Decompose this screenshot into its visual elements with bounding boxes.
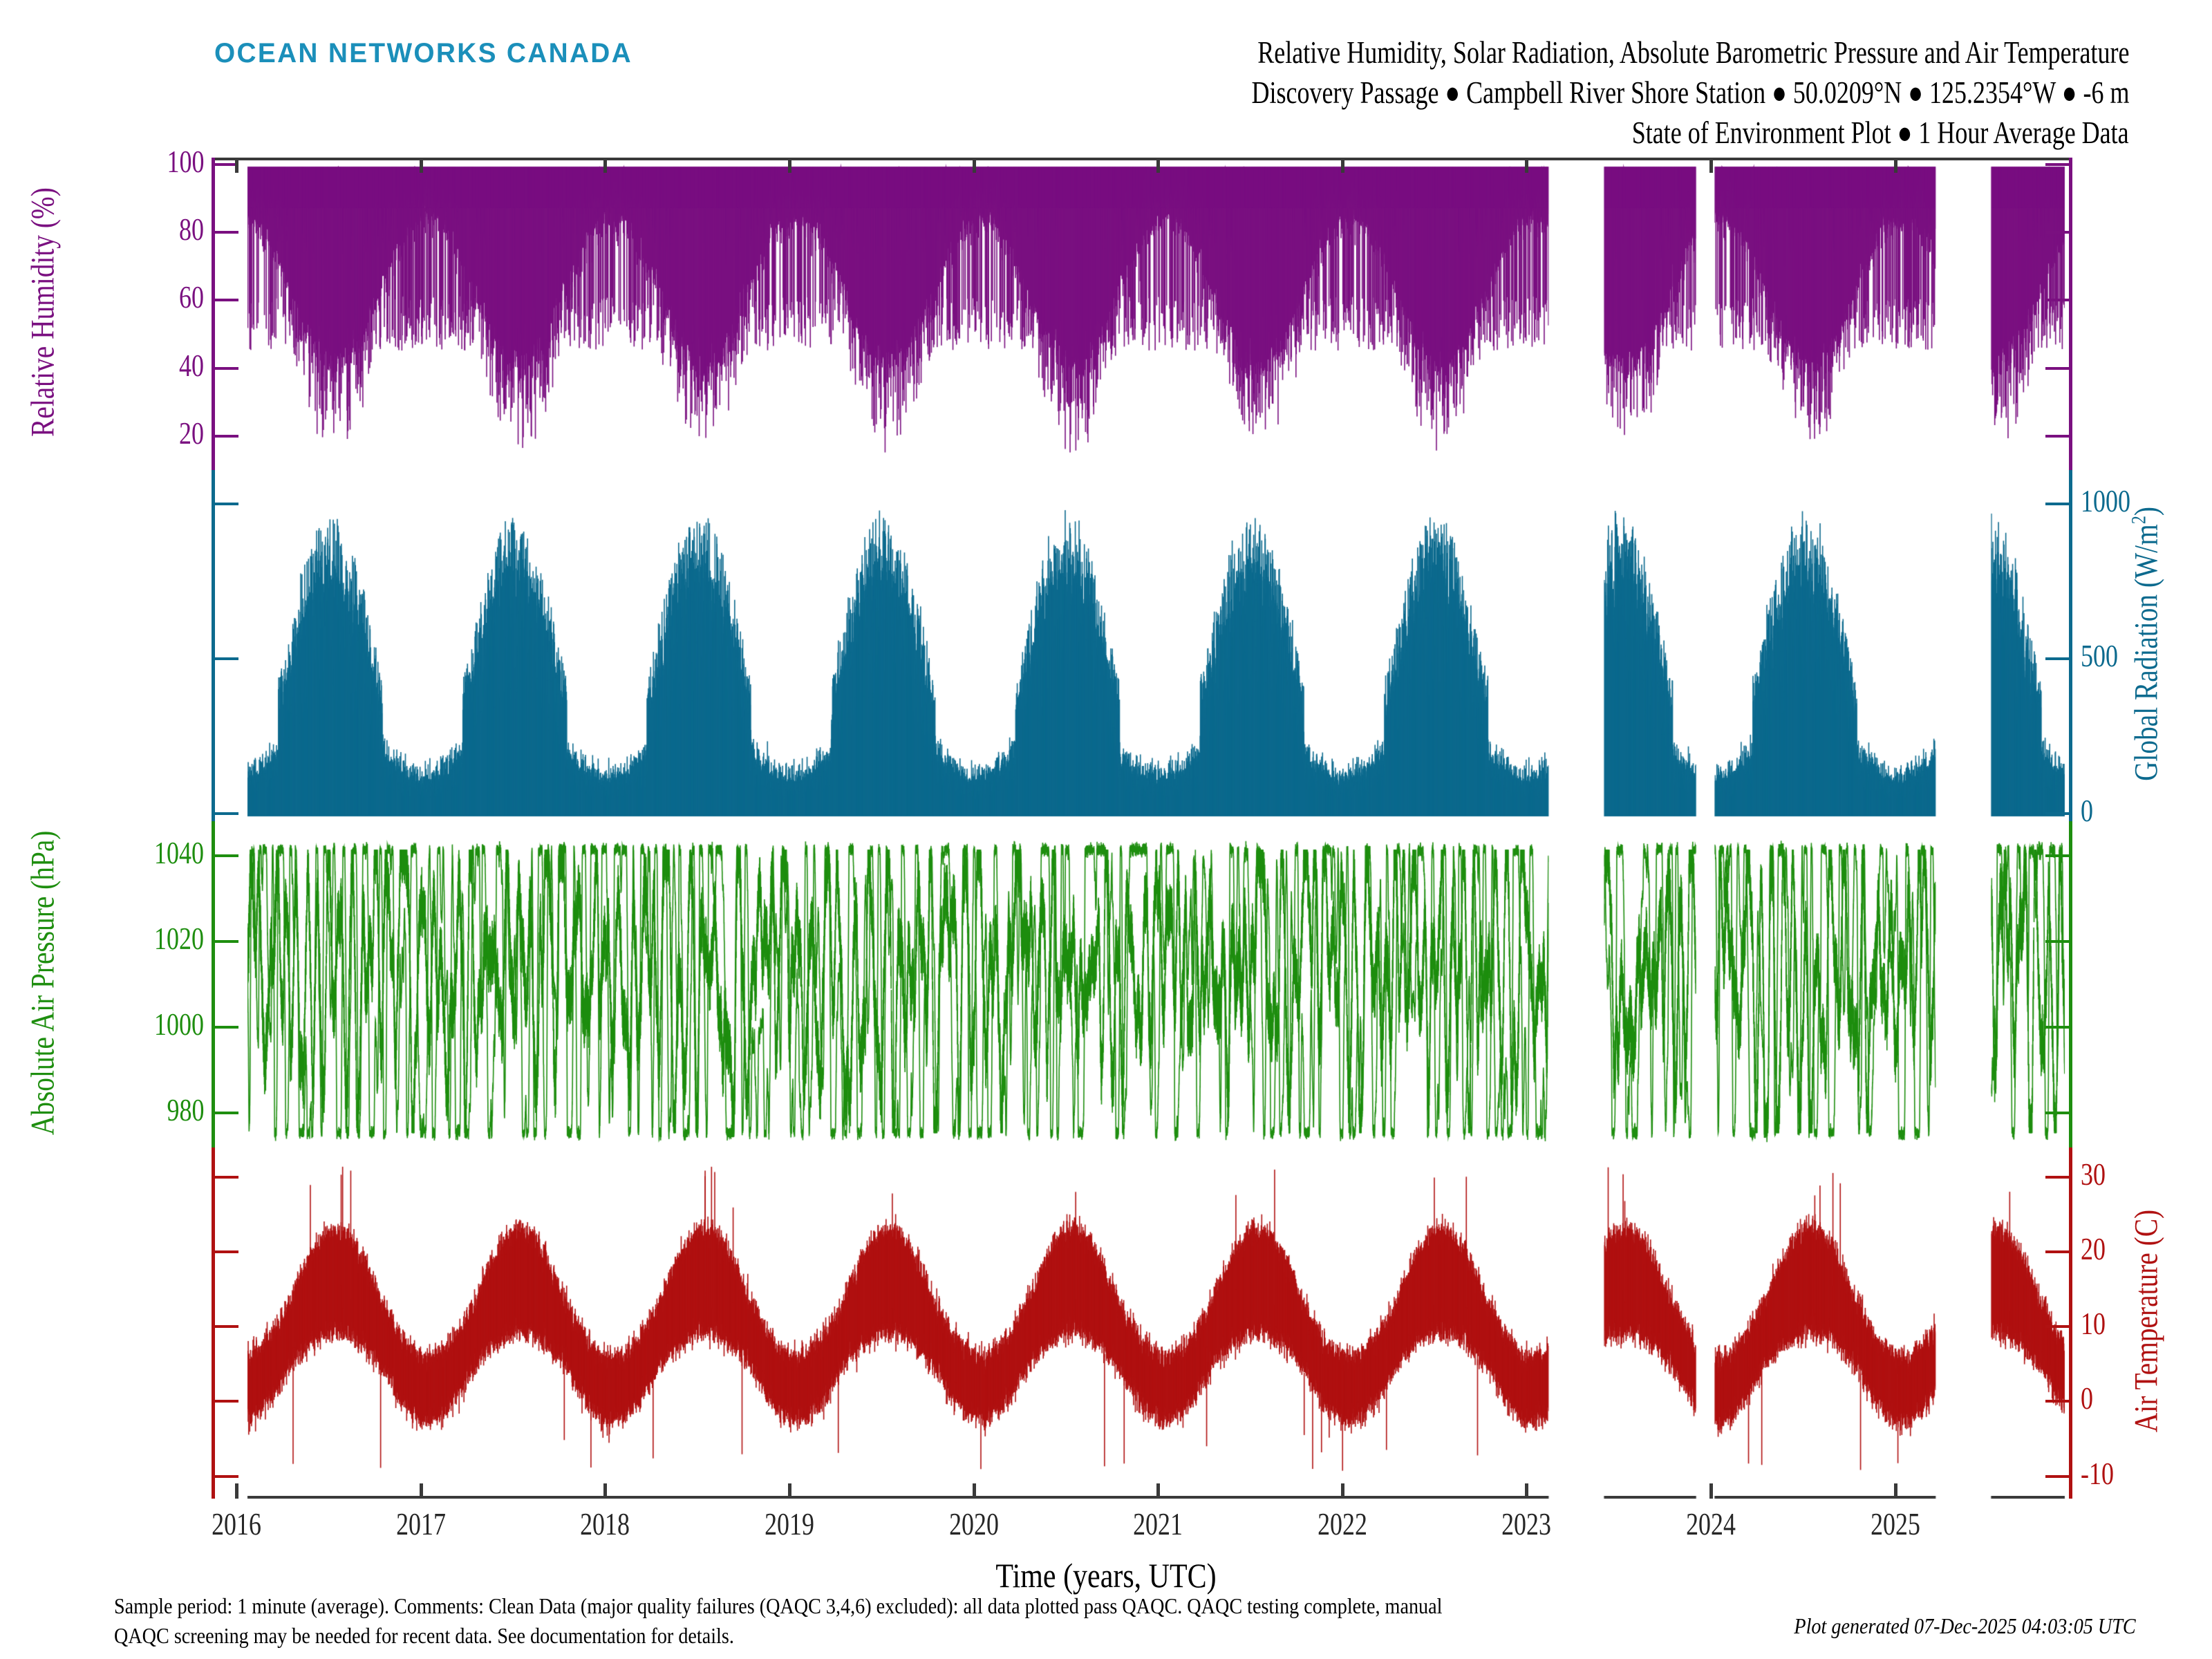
y-tick-radiation bbox=[215, 657, 238, 660]
x-tick-top bbox=[1709, 158, 1713, 173]
y-tick-right-temperature bbox=[2045, 1400, 2069, 1403]
x-tick-label: 2025 bbox=[1819, 1506, 1971, 1542]
x-tick-label: 2018 bbox=[529, 1506, 681, 1542]
y-tick-humidity bbox=[215, 299, 238, 301]
plot-subtitle: Discovery Passage ● Campbell River Shore… bbox=[0, 75, 2129, 111]
y-tick-label-humidity: 100 bbox=[55, 144, 204, 180]
plot-subtitle-2-text: State of Environment Plot ● 1 Hour Avera… bbox=[1632, 115, 2129, 151]
y-tick-right-radiation bbox=[2045, 503, 2069, 505]
x-tick bbox=[973, 1483, 976, 1499]
y-tick-humidity bbox=[215, 367, 238, 370]
x-tick-label: 2016 bbox=[160, 1506, 312, 1542]
y-tick-label-humidity: 80 bbox=[55, 212, 204, 247]
y-axis-spine-right-humidity bbox=[2069, 158, 2072, 470]
y-tick-right-radiation bbox=[2045, 657, 2069, 660]
y-tick-pressure bbox=[215, 854, 238, 857]
x-tick bbox=[1525, 1483, 1528, 1499]
y-tick-pressure bbox=[215, 940, 238, 943]
y-tick-temperature bbox=[215, 1400, 238, 1403]
y-tick-right-temperature bbox=[2045, 1250, 2069, 1253]
y-tick-right-pressure bbox=[2045, 1112, 2069, 1114]
y-tick-right-humidity bbox=[2045, 163, 2069, 166]
y-tick-right-temperature bbox=[2045, 1475, 2069, 1478]
y-tick-right-temperature bbox=[2045, 1325, 2069, 1328]
x-axis-title: Time (years, UTC) bbox=[0, 1555, 2212, 1595]
x-tick bbox=[1341, 1483, 1344, 1499]
y-axis-spine-right-temperature bbox=[2069, 1147, 2072, 1499]
y-tick-label-humidity: 40 bbox=[55, 348, 204, 384]
x-tick bbox=[788, 1483, 791, 1499]
x-tick-top bbox=[1341, 158, 1344, 173]
y-tick-label-pressure: 980 bbox=[55, 1092, 204, 1128]
plot-generated-timestamp: Plot generated 07-Dec-2025 04:03:05 UTC bbox=[1747, 1613, 2136, 1639]
y-tick-right-humidity bbox=[2045, 435, 2069, 438]
plot-page: OCEAN NETWORKS CANADA Relative Humidity,… bbox=[0, 0, 2212, 1659]
y-tick-right-radiation bbox=[2045, 812, 2069, 815]
plot-subtitle-text: Discovery Passage ● Campbell River Shore… bbox=[1251, 75, 2129, 111]
footer-note: Sample period: 1 minute (average). Comme… bbox=[114, 1591, 1794, 1650]
y-tick-label-pressure: 1040 bbox=[55, 835, 204, 871]
plot-title-text: Relative Humidity, Solar Radiation, Abso… bbox=[1257, 35, 2129, 71]
y-tick-pressure bbox=[215, 1026, 238, 1029]
y-axis-title-radiation: Global Radiation (W/m2) bbox=[2128, 402, 2166, 886]
x-tick-top bbox=[603, 158, 607, 173]
y-tick-label-pressure: 1020 bbox=[55, 921, 204, 957]
x-tick-top bbox=[788, 158, 791, 173]
y-tick-radiation bbox=[215, 812, 238, 815]
x-tick bbox=[235, 1483, 238, 1499]
y-axis-title-temperature: Air Temperature (C) bbox=[2128, 1080, 2166, 1564]
x-tick-top bbox=[420, 158, 423, 173]
x-tick bbox=[1709, 1483, 1713, 1499]
y-tick-temperature bbox=[215, 1475, 238, 1478]
y-tick-label-humidity: 20 bbox=[55, 415, 204, 451]
x-tick-top bbox=[235, 158, 238, 173]
y-tick-label-humidity: 60 bbox=[55, 279, 204, 315]
plot-title: Relative Humidity, Solar Radiation, Abso… bbox=[0, 35, 2129, 71]
plot-area bbox=[214, 158, 2070, 1499]
y-axis-spine-right-pressure bbox=[2069, 821, 2072, 1147]
plot-subtitle-2: State of Environment Plot ● 1 Hour Avera… bbox=[0, 115, 2129, 151]
x-tick bbox=[603, 1483, 607, 1499]
x-tick-top bbox=[1156, 158, 1160, 173]
timeseries-canvas bbox=[214, 160, 2070, 1501]
y-tick-humidity bbox=[215, 231, 238, 234]
plot-generated-text: Plot generated 07-Dec-2025 04:03:05 UTC bbox=[1794, 1613, 2136, 1639]
footer-note-line2: QAQC screening may be needed for recent … bbox=[114, 1621, 734, 1651]
x-tick-top bbox=[973, 158, 976, 173]
y-tick-label-pressure: 1000 bbox=[55, 1006, 204, 1042]
x-tick-label: 2023 bbox=[1450, 1506, 1602, 1542]
y-tick-right-humidity bbox=[2045, 231, 2069, 234]
x-tick bbox=[1156, 1483, 1160, 1499]
x-tick-label: 2024 bbox=[1635, 1506, 1787, 1542]
y-axis-spine-left-pressure bbox=[212, 821, 215, 1147]
x-tick-label: 2021 bbox=[1082, 1506, 1234, 1542]
y-axis-spine-right-radiation bbox=[2069, 470, 2072, 821]
x-tick-label: 2019 bbox=[713, 1506, 865, 1542]
y-tick-right-humidity bbox=[2045, 367, 2069, 370]
y-axis-spine-left-temperature bbox=[212, 1147, 215, 1499]
y-tick-radiation bbox=[215, 503, 238, 505]
x-tick-label: 2020 bbox=[898, 1506, 1050, 1542]
y-tick-right-pressure bbox=[2045, 940, 2069, 943]
y-axis-title-pressure: Absolute Air Pressure (hPa) bbox=[24, 741, 62, 1225]
x-tick bbox=[1894, 1483, 1897, 1499]
y-tick-temperature bbox=[215, 1176, 238, 1179]
y-axis-spine-left-humidity bbox=[212, 158, 215, 470]
x-axis-title-text: Time (years, UTC) bbox=[995, 1555, 1216, 1595]
y-tick-temperature bbox=[215, 1250, 238, 1253]
y-tick-right-humidity bbox=[2045, 299, 2069, 301]
footer-note-line1: Sample period: 1 minute (average). Comme… bbox=[114, 1591, 1442, 1621]
y-tick-right-pressure bbox=[2045, 1026, 2069, 1029]
y-tick-right-pressure bbox=[2045, 854, 2069, 857]
y-axis-spine-left-radiation bbox=[212, 470, 215, 821]
y-tick-right-temperature bbox=[2045, 1176, 2069, 1179]
x-tick-label: 2022 bbox=[1266, 1506, 1418, 1542]
y-tick-temperature bbox=[215, 1325, 238, 1328]
x-tick-top bbox=[1525, 158, 1528, 173]
x-tick-label: 2017 bbox=[345, 1506, 497, 1542]
y-tick-humidity bbox=[215, 435, 238, 438]
y-axis-title-humidity: Relative Humidity (%) bbox=[24, 71, 62, 554]
y-tick-pressure bbox=[215, 1112, 238, 1114]
x-tick bbox=[420, 1483, 423, 1499]
x-tick-top bbox=[1894, 158, 1897, 173]
